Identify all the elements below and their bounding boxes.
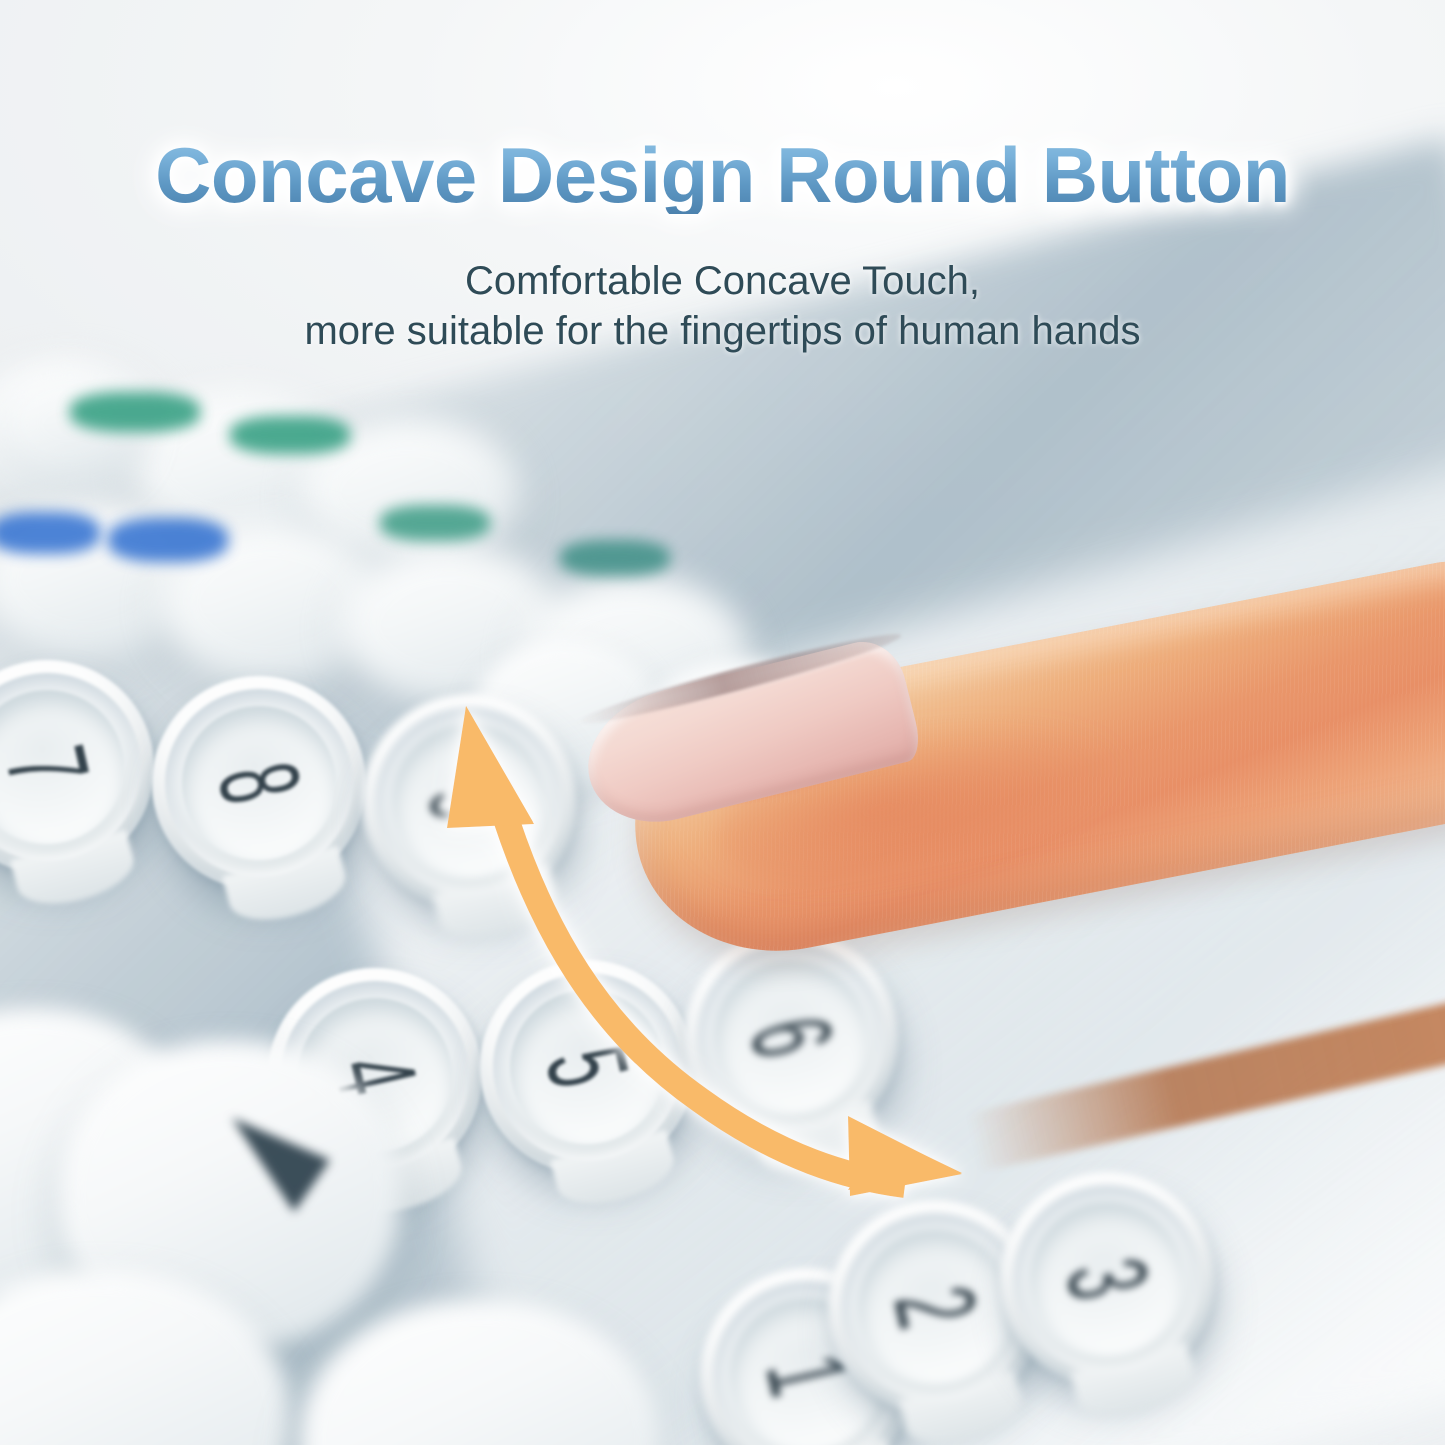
page-title: Concave Design Round Button [0,136,1445,214]
keycap-label: 6 [732,1007,850,1066]
background-key-legend-blue [0,512,100,554]
subtitle-line-1: Comfortable Concave Touch, [465,259,980,303]
subtitle-line-2: more suitable for the fingertips of huma… [0,306,1445,356]
product-feature-image: 7 8 9 4 5 [0,0,1445,1445]
background-key-legend-green [70,392,200,432]
background-key-legend-green [380,505,490,541]
keycap-label: 7 [0,737,106,796]
keycap-label: 3 [1048,1249,1166,1308]
background-key-legend-green [230,416,350,454]
subtitle: Comfortable Concave Touch, more suitable… [0,256,1445,356]
keycap-label: 5 [528,1037,646,1096]
keycap-label: 8 [200,753,318,812]
keycap-label: 2 [876,1277,994,1336]
keycap-label: 9 [410,771,528,830]
background-key-legend-blue [108,518,228,562]
background-key-legend-teal [560,540,670,576]
